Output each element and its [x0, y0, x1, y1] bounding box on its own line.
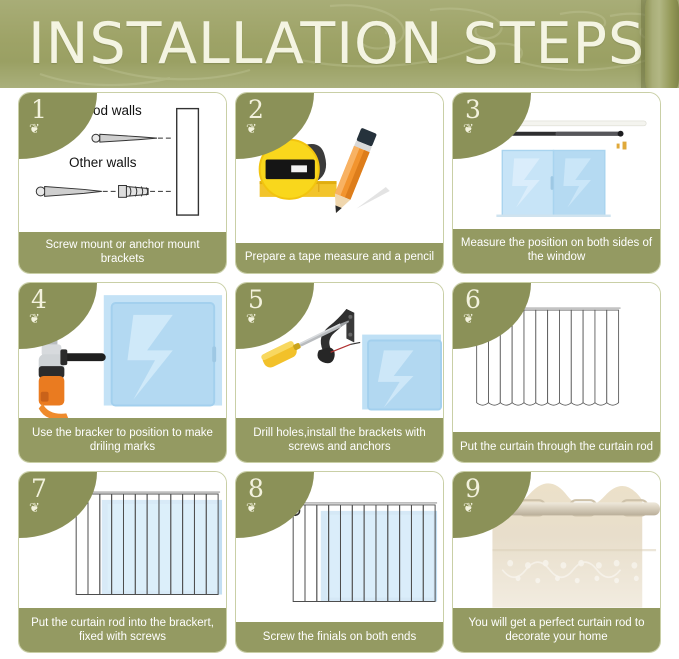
ornament-icon: ❦ — [29, 500, 39, 516]
installation-steps-page: INSTALLATION STEPS — [0, 0, 679, 659]
step-card-9[interactable]: 9 ❦ You will get a perfect curtain rod t… — [452, 471, 661, 653]
step-7-illustration: 7 ❦ — [19, 472, 226, 608]
step-9-caption: You will get a perfect curtain rod to de… — [453, 608, 660, 652]
banner-roll-icon — [645, 0, 679, 88]
step-6-illustration: 6 ❦ — [453, 283, 660, 433]
step-9-illustration: 9 ❦ — [453, 472, 660, 608]
step-card-2[interactable]: 2 ❦ Prepare a tape measure and a pencil — [235, 92, 444, 274]
ornament-icon: ❦ — [463, 311, 473, 327]
step-8-illustration: 8 ❦ — [236, 472, 443, 622]
step-card-5[interactable]: 5 ❦ Drill holes,install the brackets wit… — [235, 282, 444, 464]
step-6-caption: Put the curtain through the curtain rod — [453, 432, 660, 462]
page-title: INSTALLATION STEPS — [28, 11, 645, 77]
screw-marks — [331, 342, 361, 352]
ornament-icon: ❦ — [463, 500, 473, 516]
step-3-caption: Measure the position on both sides of th… — [453, 229, 660, 273]
ornament-icon: ❦ — [29, 311, 39, 327]
window-corner — [362, 334, 441, 409]
step-card-7[interactable]: 7 ❦ Put the curtain rod into the bracker… — [18, 471, 227, 653]
step-4-illustration: 4 ❦ — [19, 283, 226, 419]
step-card-4[interactable]: 4 ❦ Use the bracker to position to make … — [18, 282, 227, 464]
step-5-illustration: 5 ❦ — [236, 283, 443, 419]
step-5-caption: Drill holes,install the brackets with sc… — [236, 418, 443, 462]
other-walls-label: Other walls — [69, 155, 137, 170]
step-number-1: 1 — [31, 95, 47, 124]
header-banner: INSTALLATION STEPS — [0, 0, 679, 88]
step-number-3: 3 — [465, 95, 481, 124]
step-7-caption: Put the curtain rod into the brackert, f… — [19, 608, 226, 652]
ornament-icon: ❦ — [246, 121, 256, 137]
step-number-2: 2 — [248, 95, 264, 124]
ornament-icon: ❦ — [29, 121, 39, 137]
step-card-1[interactable]: Wood walls Other walls 1 ❦ Screw mount o… — [18, 92, 227, 274]
bracket-icon — [317, 309, 354, 363]
step-card-3[interactable]: 3 ❦ Measure the position on both sides o… — [452, 92, 661, 274]
step-2-caption: Prepare a tape measure and a pencil — [236, 243, 443, 273]
step-4-caption: Use the bracker to position to make dril… — [19, 418, 226, 462]
window-panel — [104, 295, 222, 405]
step-card-6[interactable]: 6 ❦ Put the curtain through the curtain … — [452, 282, 661, 464]
ornament-icon: ❦ — [246, 500, 256, 516]
step-3-illustration: 3 ❦ — [453, 93, 660, 229]
step-card-8[interactable]: 8 ❦ Screw the finials on both ends — [235, 471, 444, 653]
step-2-illustration: 2 ❦ — [236, 93, 443, 243]
step-number-6: 6 — [465, 285, 481, 314]
steps-grid: Wood walls Other walls 1 ❦ Screw mount o… — [0, 92, 679, 659]
ornament-icon: ❦ — [246, 311, 256, 327]
step-8-caption: Screw the finials on both ends — [236, 622, 443, 652]
step-1-illustration: Wood walls Other walls 1 ❦ — [19, 93, 226, 232]
ornament-icon: ❦ — [463, 121, 473, 137]
step-number-4: 4 — [31, 285, 47, 314]
step-number-5: 5 — [248, 285, 264, 314]
step-number-7: 7 — [31, 474, 47, 503]
step-1-caption: Screw mount or anchor mount brackets — [19, 232, 226, 273]
step-number-8: 8 — [248, 474, 264, 503]
step-number-9: 9 — [465, 474, 481, 503]
